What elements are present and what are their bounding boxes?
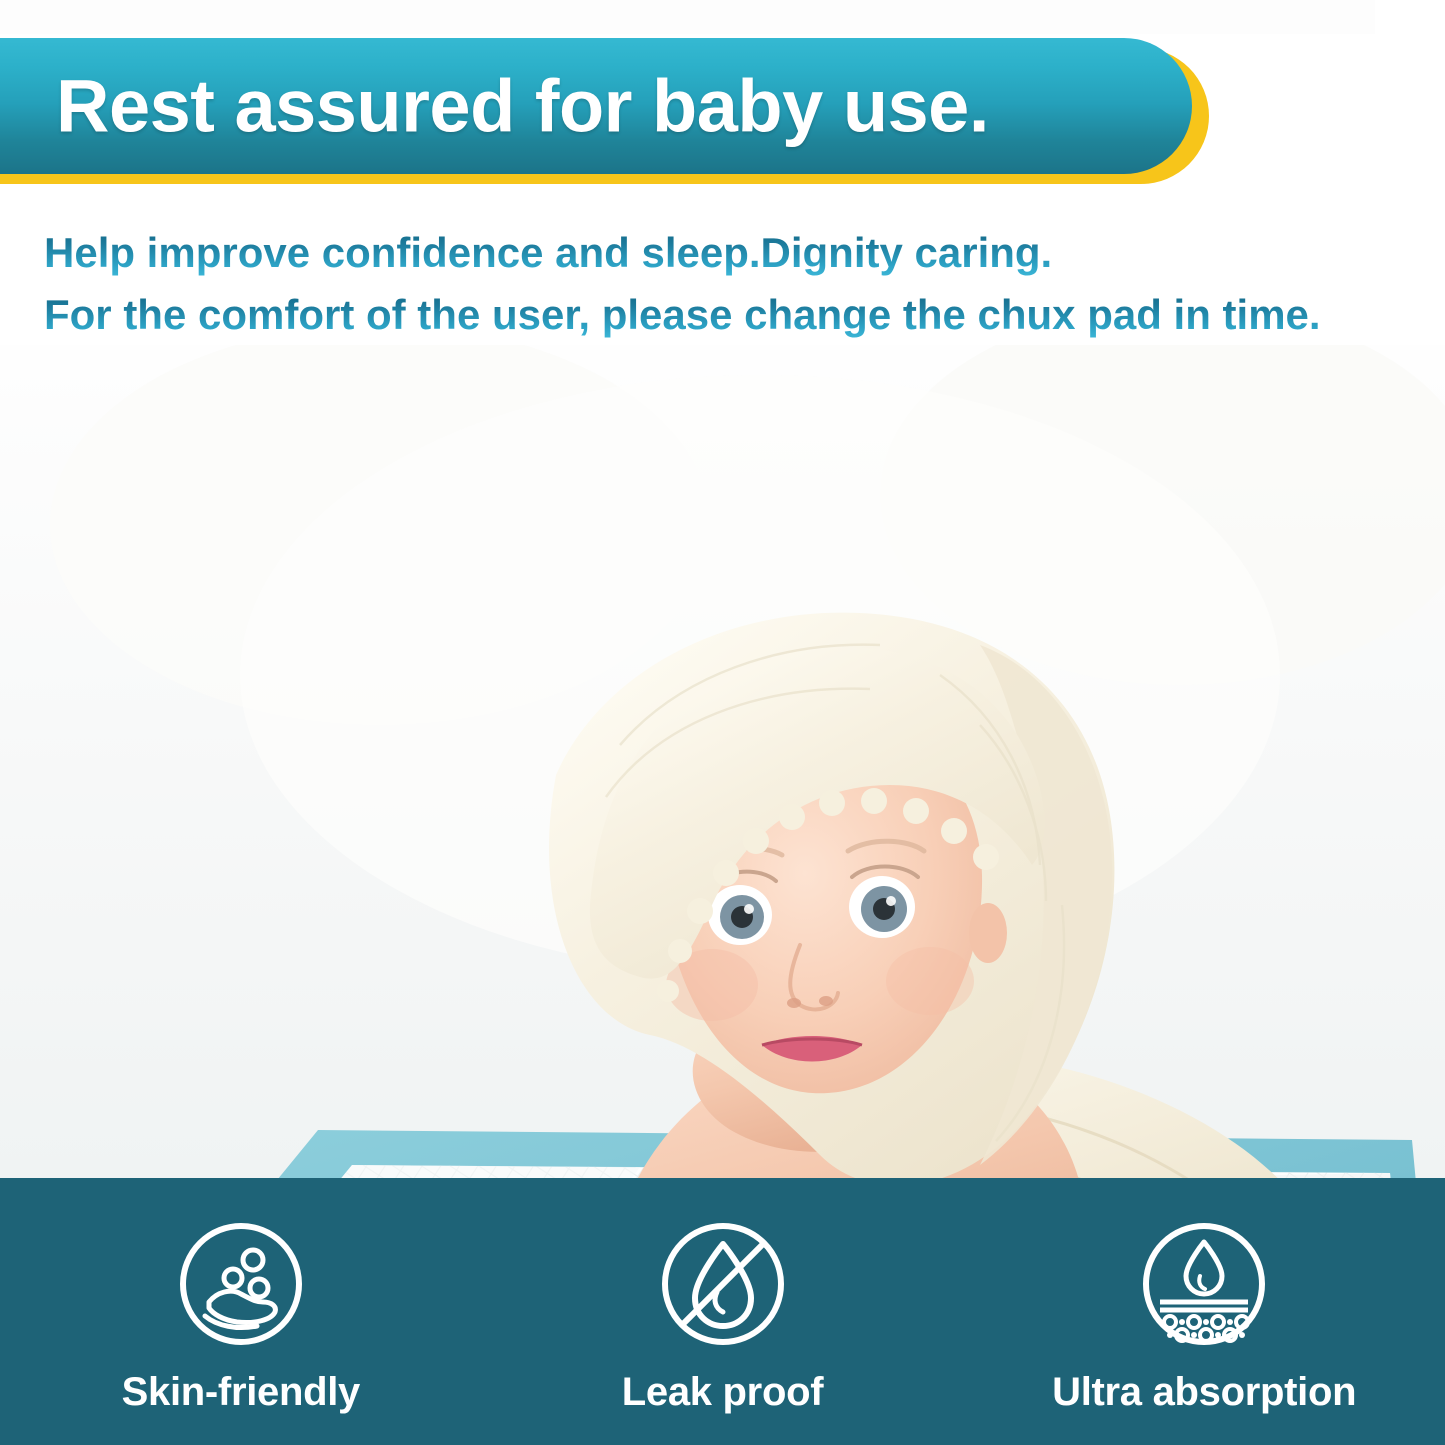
top-white-strip xyxy=(0,0,1445,34)
feature-leak-proof: Leak proof xyxy=(482,1208,964,1415)
absorption-layers-icon xyxy=(1138,1218,1270,1350)
feature-skin-friendly: Skin-friendly xyxy=(0,1208,482,1415)
subheading-block: Help improve confidence and sleep.Dignit… xyxy=(44,222,1424,346)
feature-label: Leak proof xyxy=(622,1370,823,1415)
no-water-droplet-icon xyxy=(657,1218,789,1350)
product-photo xyxy=(0,345,1445,1178)
feature-list: Skin-friendly Leak proof xyxy=(0,1178,1445,1445)
hand-with-bubbles-icon xyxy=(175,1218,307,1350)
product-feature-poster: Rest assured for baby use. Help improve … xyxy=(0,0,1445,1445)
subheading-line-1: Help improve confidence and sleep.Dignit… xyxy=(44,222,1424,284)
feature-label: Skin-friendly xyxy=(122,1370,360,1415)
feature-ultra-absorption: Ultra absorption xyxy=(963,1208,1445,1415)
feature-bar: Skin-friendly Leak proof xyxy=(0,1178,1445,1445)
headline-banner: Rest assured for baby use. xyxy=(0,38,1215,184)
banner-body: Rest assured for baby use. xyxy=(0,38,1192,174)
top-right-corner-patch xyxy=(1375,0,1445,38)
banner-title: Rest assured for baby use. xyxy=(56,64,989,149)
photo-illustration xyxy=(0,345,1445,1178)
feature-label: Ultra absorption xyxy=(1052,1370,1356,1415)
subheading-line-2: For the comfort of the user, please chan… xyxy=(44,284,1424,346)
